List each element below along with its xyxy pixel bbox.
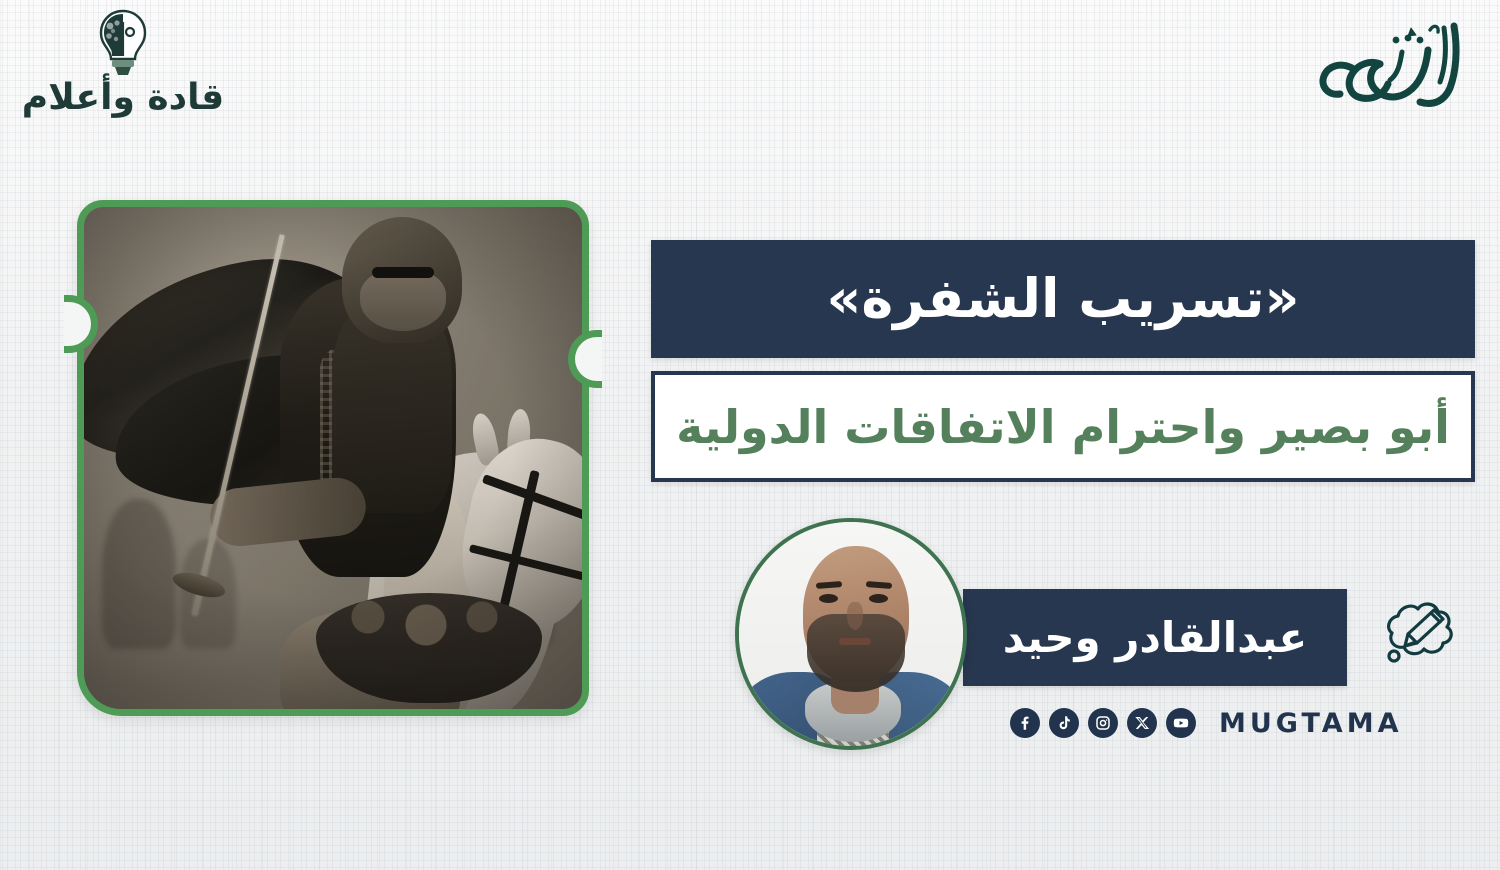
author-name-bar: عبدالقادر وحيد bbox=[963, 589, 1347, 686]
brand-tagline: قادة وأعلام bbox=[22, 80, 224, 116]
warrior-horse-artwork bbox=[84, 207, 582, 709]
page-title: «تسريب الشفرة» bbox=[827, 272, 1300, 326]
facebook-icon[interactable] bbox=[1010, 708, 1040, 738]
mugtama-calligraphy-icon bbox=[1304, 6, 1474, 116]
hero-image-frame bbox=[77, 200, 589, 716]
x-twitter-icon[interactable] bbox=[1127, 708, 1157, 738]
lightbulb-brain-icon bbox=[92, 8, 154, 78]
instagram-icon[interactable] bbox=[1088, 708, 1118, 738]
mugtama-logo[interactable] bbox=[1304, 6, 1474, 116]
pencil-thought-bubble-icon bbox=[1368, 594, 1460, 672]
mugtama-wordmark: MUGTAMA bbox=[1219, 710, 1402, 737]
youtube-icon[interactable] bbox=[1166, 708, 1196, 738]
author-name: عبدالقادر وحيد bbox=[1003, 617, 1307, 659]
page-subtitle: أبو بصير واحترام الاتفاقات الدولية bbox=[676, 404, 1450, 450]
article-title-bar: «تسريب الشفرة» bbox=[651, 240, 1475, 358]
brand-qada-wa-aalam[interactable]: قادة وأعلام bbox=[18, 8, 228, 123]
article-subtitle-bar: أبو بصير واحترام الاتفاقات الدولية bbox=[651, 371, 1475, 482]
social-links-row[interactable]: MUGTAMA bbox=[1010, 706, 1402, 740]
tiktok-icon[interactable] bbox=[1049, 708, 1079, 738]
poster-canvas: قادة وأعلام bbox=[0, 0, 1500, 870]
avatar bbox=[735, 518, 967, 750]
